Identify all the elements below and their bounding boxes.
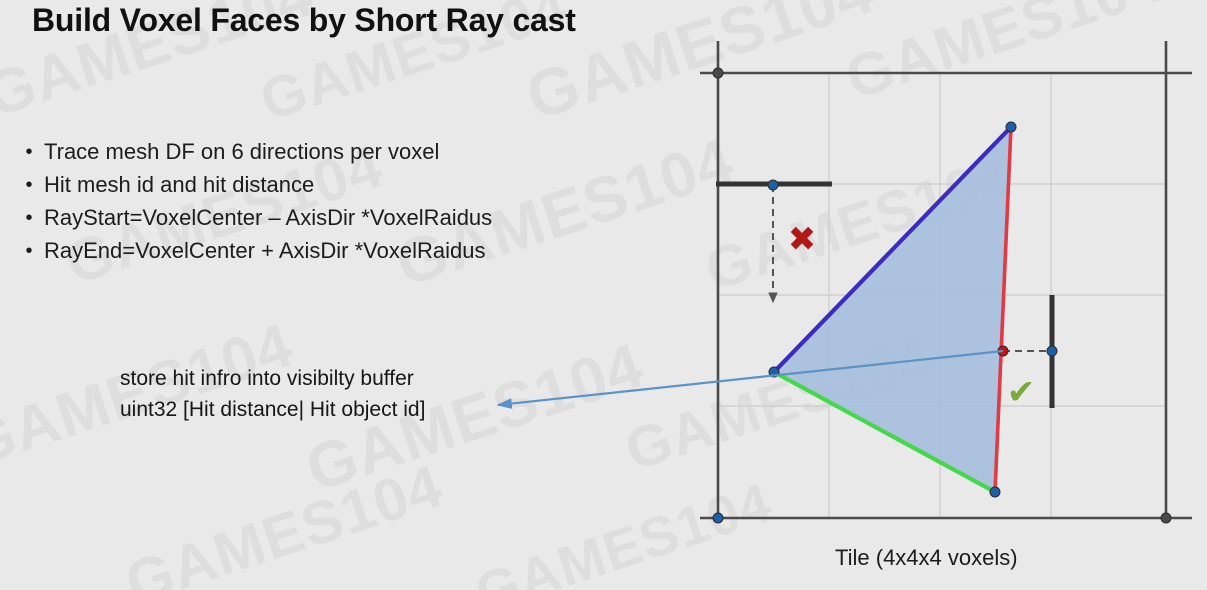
bullet-item: •Trace mesh DF on 6 directions per voxel bbox=[14, 136, 492, 168]
corner-bottom-left bbox=[713, 513, 723, 523]
bullet-list: •Trace mesh DF on 6 directions per voxel… bbox=[14, 136, 492, 268]
tri-vertex-bottom bbox=[990, 487, 1000, 497]
bullet-marker-icon: • bbox=[14, 136, 44, 168]
corner-top-left bbox=[713, 68, 723, 78]
bullet-label: RayEnd=VoxelCenter + AxisDir *VoxelRaidu… bbox=[44, 235, 485, 267]
good-mark: ✔ bbox=[1007, 373, 1036, 413]
bullet-marker-icon: • bbox=[14, 169, 44, 201]
annotation-block: store hit infro into visibilty buffer ui… bbox=[120, 363, 425, 425]
bullet-item: •RayStart=VoxelCenter – AxisDir *VoxelRa… bbox=[14, 202, 492, 234]
bullet-item: •RayEnd=VoxelCenter + AxisDir *VoxelRaid… bbox=[14, 235, 492, 267]
annotation-line-2: uint32 [Hit distance| Hit object id] bbox=[120, 394, 425, 425]
tri-vertex-top bbox=[1006, 122, 1016, 132]
voxel-raycast-diagram: ✖✔ bbox=[0, 0, 1207, 590]
bullet-marker-icon: • bbox=[14, 235, 44, 267]
corner-bottom-right bbox=[1161, 513, 1171, 523]
bad-mark: ✖ bbox=[788, 220, 817, 260]
bullet-label: Trace mesh DF on 6 directions per voxel bbox=[44, 136, 439, 168]
bullet-item: •Hit mesh id and hit distance bbox=[14, 169, 492, 201]
tile-caption: Tile (4x4x4 voxels) bbox=[835, 545, 1018, 571]
annotation-line-1: store hit infro into visibilty buffer bbox=[120, 363, 425, 394]
voxel-center-miss bbox=[768, 180, 778, 190]
bullet-label: RayStart=VoxelCenter – AxisDir *VoxelRai… bbox=[44, 202, 492, 234]
bullet-label: Hit mesh id and hit distance bbox=[44, 169, 314, 201]
page-title: Build Voxel Faces by Short Ray cast bbox=[32, 2, 576, 39]
bullet-marker-icon: • bbox=[14, 202, 44, 234]
voxel-center-hit bbox=[1047, 346, 1057, 356]
